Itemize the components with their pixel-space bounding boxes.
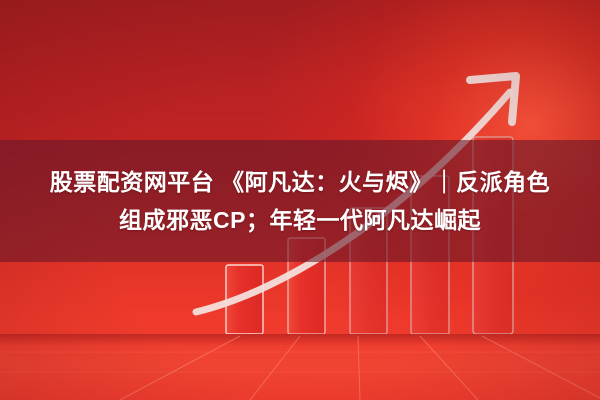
headline-line-2: 组成邪恶CP；年轻一代阿凡达崛起 (119, 201, 481, 239)
headline-line-1: 股票配资网平台 《阿凡达：火与烬》｜反派角色 (50, 163, 550, 201)
floor-shadow (0, 334, 600, 346)
perspective-floor (0, 334, 600, 400)
promo-banner: 股票配资网平台 《阿凡达：火与烬》｜反派角色 组成邪恶CP；年轻一代阿凡达崛起 (0, 0, 600, 400)
headline-band: 股票配资网平台 《阿凡达：火与烬》｜反派角色 组成邪恶CP；年轻一代阿凡达崛起 (0, 140, 600, 262)
